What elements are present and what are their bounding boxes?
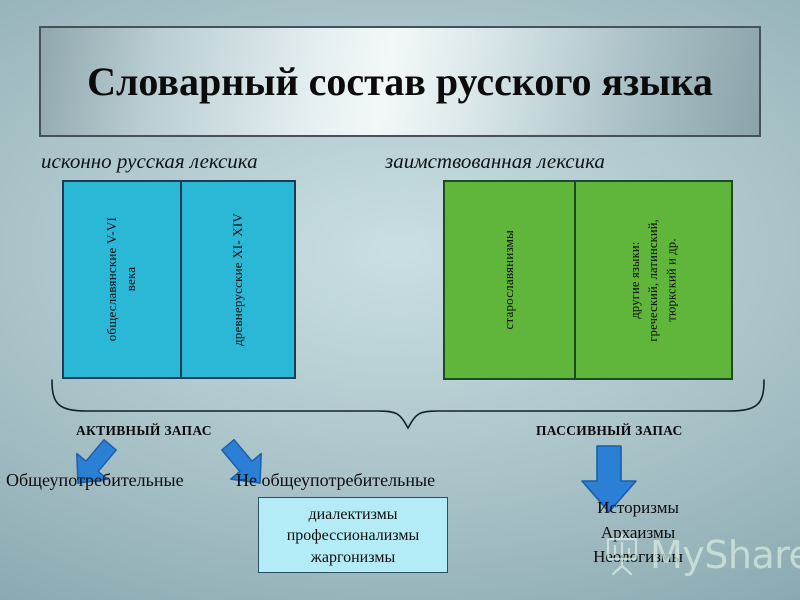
caption-borrowed-lexicon: заимствованная лексика: [385, 149, 605, 174]
uncommon-word-type-jargonisms: жаргонизмы: [311, 547, 395, 568]
native-cell-old-russian: древнерусские XI- XIV: [182, 182, 294, 377]
passive-word-type-historicisms: Историзмы: [558, 496, 718, 521]
borrowed-cell-other-languages-label: другие языки: греческий, латинский, тюрк…: [626, 219, 680, 342]
passive-stock-label: ПАССИВНЫЙ ЗАПАС: [536, 423, 683, 439]
uncommon-word-type-dialectisms: диалектизмы: [308, 504, 397, 525]
passive-word-type-neologisms: Неологизмы: [558, 545, 718, 570]
native-cell-common-slavic-label: общеславянские V-VI века: [103, 217, 141, 341]
active-stock-label: АКТИВНЫЙ ЗАПАС: [76, 423, 212, 439]
passive-words-list: Историзмы Архаизмы Неологизмы: [558, 496, 718, 570]
caption-native-lexicon: исконно русская лексика: [41, 149, 258, 174]
leaf-uncommon-words: Не общеупотребительные: [236, 470, 435, 491]
uncommon-word-type-professionalisms: профессионализмы: [287, 525, 420, 546]
passive-word-type-archaisms: Архаизмы: [558, 521, 718, 546]
borrowed-cell-old-church-slavonicisms: старославянизмы: [445, 182, 576, 378]
native-lexicon-table: общеславянские V-VI века древнерусские X…: [62, 180, 296, 379]
uncommon-words-box: диалектизмы профессионализмы жаргонизмы: [258, 497, 448, 573]
slide-canvas: Словарный состав русского языка исконно …: [0, 0, 800, 600]
borrowed-lexicon-table: старославянизмы другие языки: греческий,…: [443, 180, 733, 380]
title-box: Словарный состав русского языка: [39, 26, 761, 137]
borrowed-cell-old-church-slavonicisms-label: старославянизмы: [500, 230, 519, 330]
leaf-common-words: Общеупотребительные: [6, 470, 184, 491]
borrowed-cell-other-languages: другие языки: греческий, латинский, тюрк…: [576, 182, 731, 378]
native-cell-common-slavic: общеславянские V-VI века: [64, 182, 182, 377]
native-cell-old-russian-label: древнерусские XI- XIV: [229, 213, 248, 346]
page-title: Словарный состав русского языка: [87, 62, 713, 102]
